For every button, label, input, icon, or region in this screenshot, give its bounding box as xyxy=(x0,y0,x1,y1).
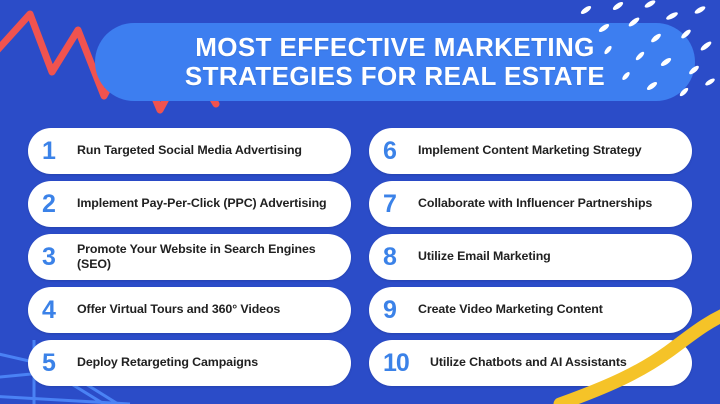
list-item-number: 10 xyxy=(383,351,425,376)
header-banner: MOST EFFECTIVE MARKETING STRATEGIES FOR … xyxy=(95,23,695,101)
list-item[interactable]: 9 Create Video Marketing Content xyxy=(369,287,692,333)
list-item[interactable]: 6 Implement Content Marketing Strategy xyxy=(369,128,692,174)
list-item-number: 7 xyxy=(383,192,409,217)
list-item[interactable]: 5 Deploy Retargeting Campaigns xyxy=(28,340,351,386)
list-item-label: Offer Virtual Tours and 360° Videos xyxy=(77,302,280,317)
page-title-line-2: STRATEGIES FOR REAL ESTATE xyxy=(185,62,605,91)
list-item[interactable]: 1 Run Targeted Social Media Advertising xyxy=(28,128,351,174)
strategy-column-right: 6 Implement Content Marketing Strategy 7… xyxy=(369,128,692,396)
list-item-label: Run Targeted Social Media Advertising xyxy=(77,143,302,158)
strategy-column-left: 1 Run Targeted Social Media Advertising … xyxy=(28,128,351,396)
list-item-label: Implement Content Marketing Strategy xyxy=(418,143,642,158)
infographic-canvas: MOST EFFECTIVE MARKETING STRATEGIES FOR … xyxy=(0,0,720,404)
list-item[interactable]: 8 Utilize Email Marketing xyxy=(369,234,692,280)
list-item-number: 6 xyxy=(383,139,409,164)
list-item[interactable]: 4 Offer Virtual Tours and 360° Videos xyxy=(28,287,351,333)
list-item-label: Create Video Marketing Content xyxy=(418,302,603,317)
list-item-number: 3 xyxy=(42,245,68,270)
list-item-number: 4 xyxy=(42,298,68,323)
page-title-line-1: MOST EFFECTIVE MARKETING xyxy=(195,33,595,62)
list-item-label: Implement Pay-Per-Click (PPC) Advertisin… xyxy=(77,196,327,211)
list-item-label: Collaborate with Influencer Partnerships xyxy=(418,196,652,211)
list-item-number: 1 xyxy=(42,139,68,164)
list-item[interactable]: 7 Collaborate with Influencer Partnershi… xyxy=(369,181,692,227)
list-item-number: 5 xyxy=(42,351,68,376)
list-item-number: 9 xyxy=(383,298,409,323)
list-item[interactable]: 2 Implement Pay-Per-Click (PPC) Advertis… xyxy=(28,181,351,227)
list-item[interactable]: 10 Utilize Chatbots and AI Assistants xyxy=(369,340,692,386)
list-item-label: Promote Your Website in Search Engines (… xyxy=(77,242,339,272)
list-item-number: 2 xyxy=(42,192,68,217)
list-item-number: 8 xyxy=(383,245,409,270)
strategy-list: 1 Run Targeted Social Media Advertising … xyxy=(0,128,720,396)
list-item-label: Utilize Chatbots and AI Assistants xyxy=(430,355,627,370)
list-item[interactable]: 3 Promote Your Website in Search Engines… xyxy=(28,234,351,280)
list-item-label: Deploy Retargeting Campaigns xyxy=(77,355,258,370)
list-item-label: Utilize Email Marketing xyxy=(418,249,551,264)
